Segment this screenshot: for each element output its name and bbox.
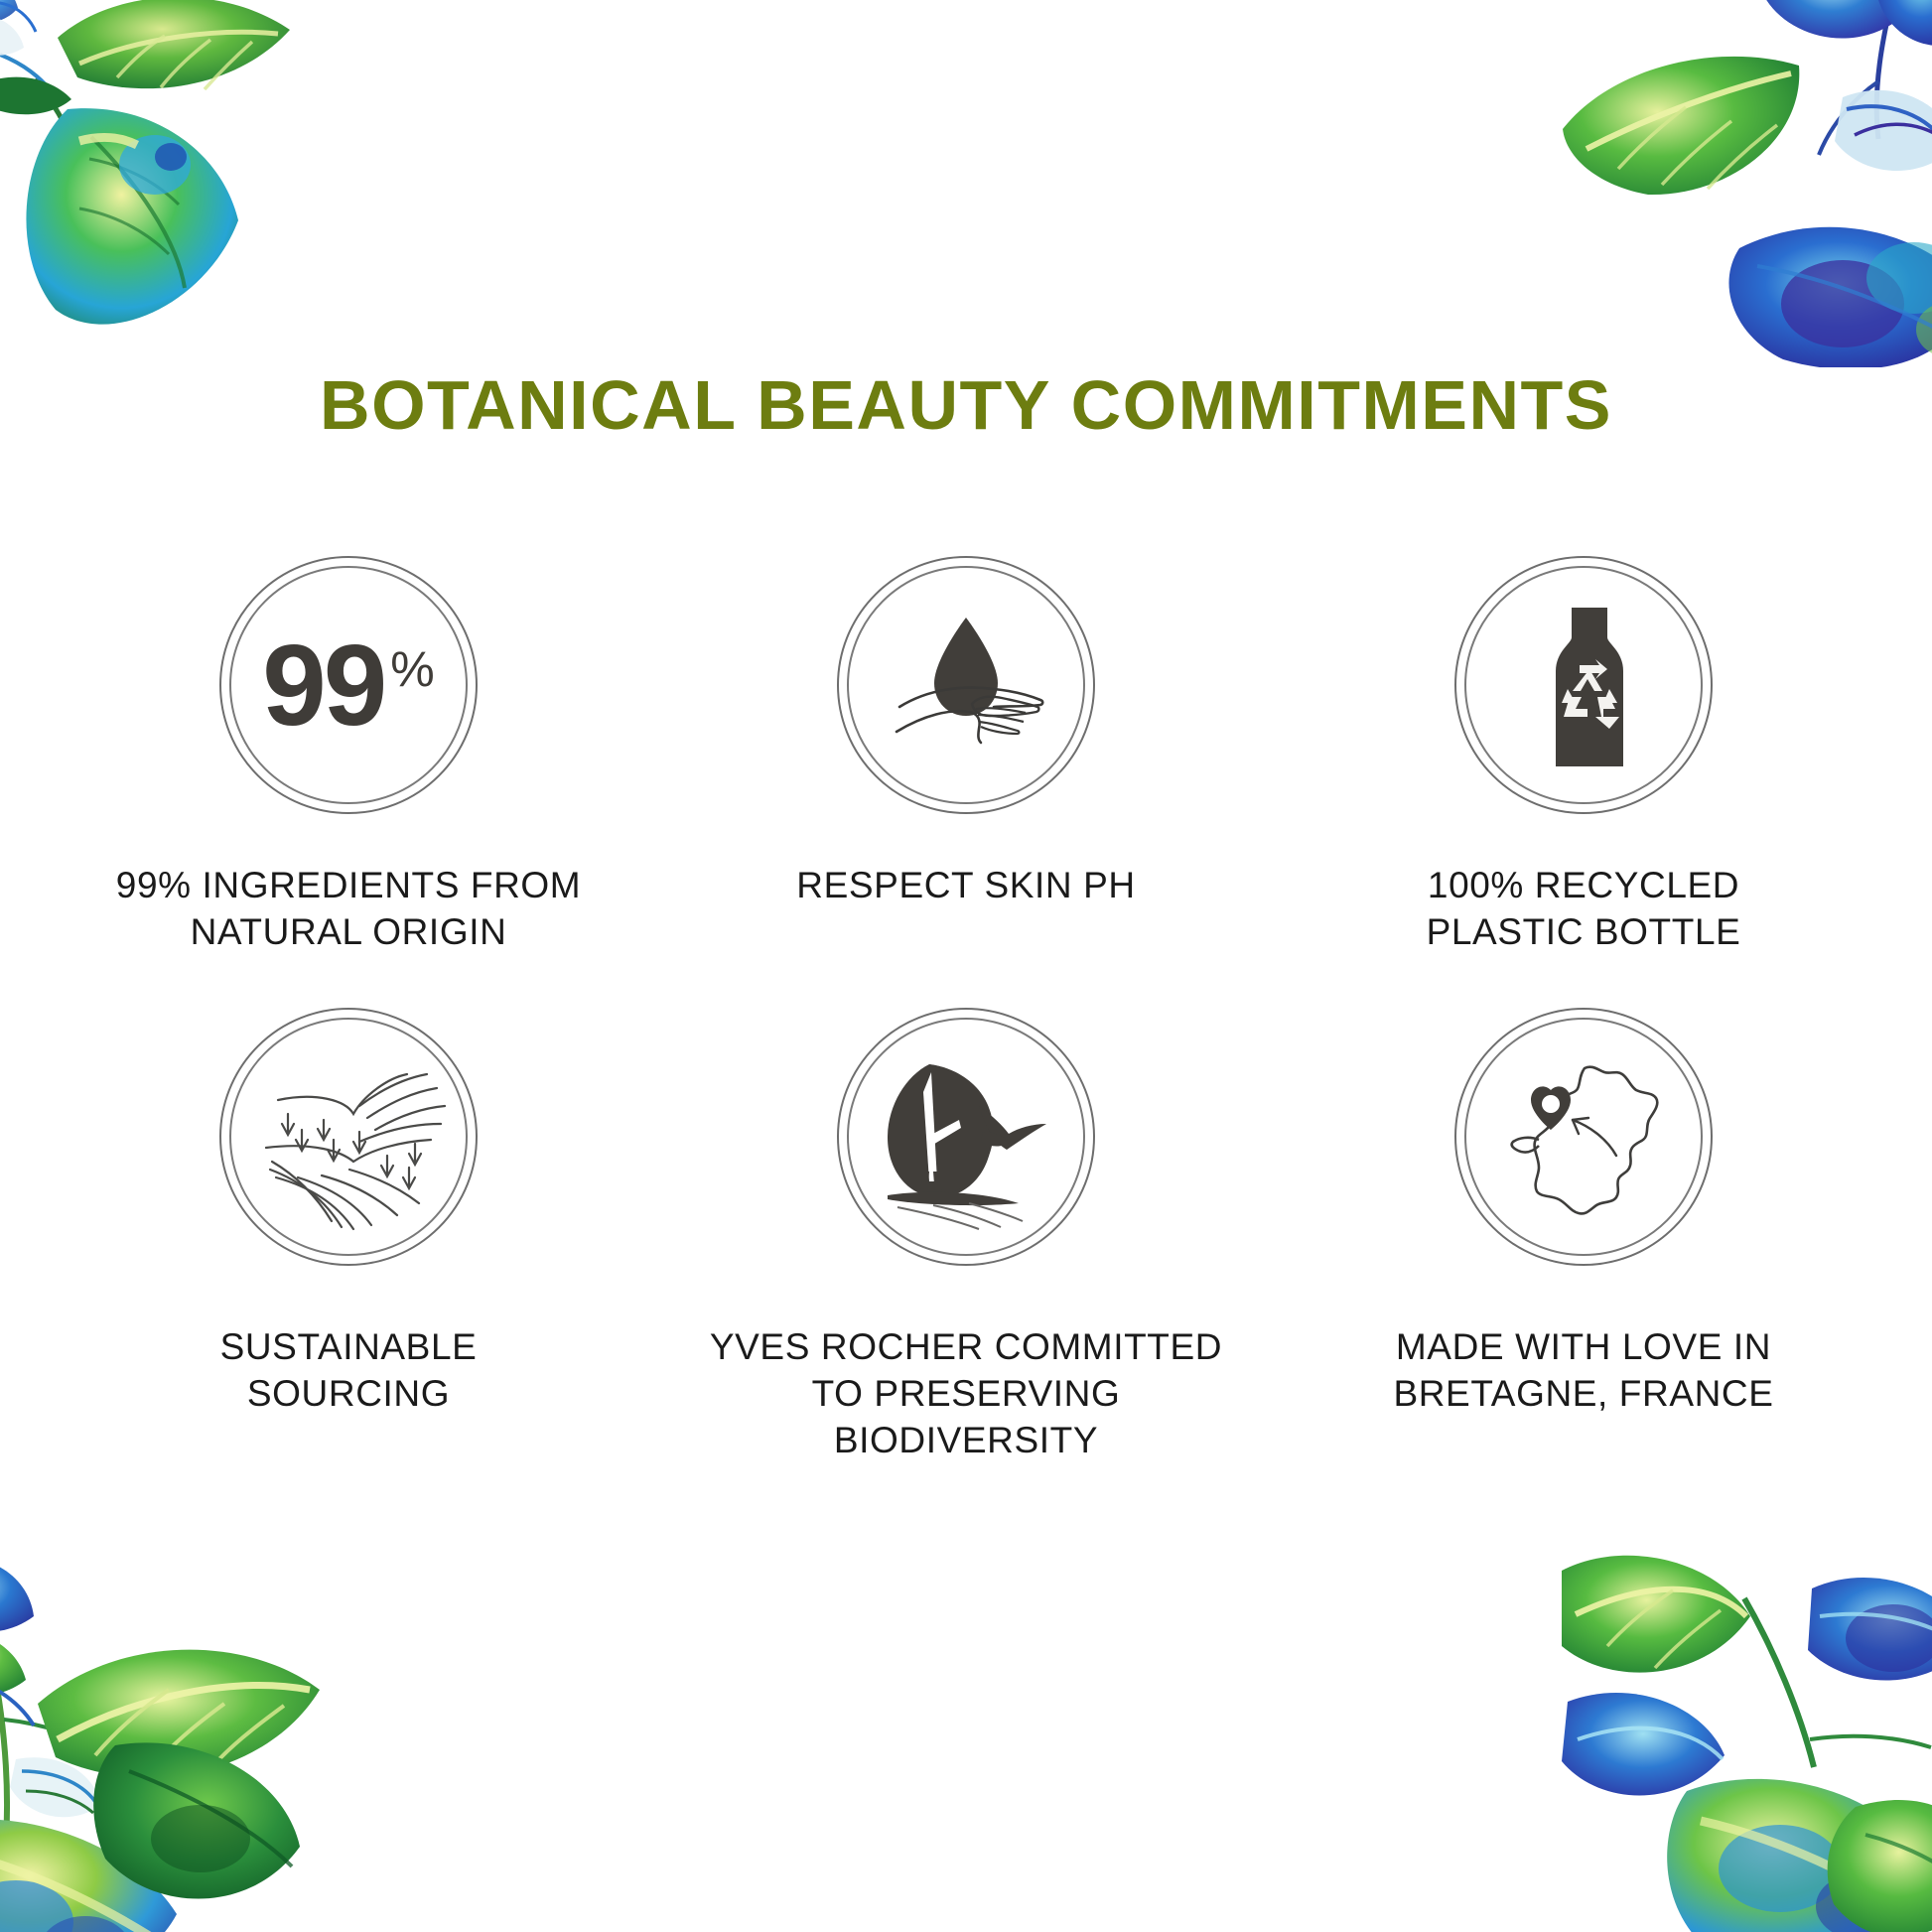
caption-line: SUSTAINABLE xyxy=(220,1323,478,1370)
caption-line: PLASTIC BOTTLE xyxy=(1427,908,1741,955)
caption-line: BIODIVERSITY xyxy=(710,1417,1222,1463)
tree-and-bird-badge xyxy=(837,1008,1095,1266)
watercolor-mint-leaves-top-left xyxy=(0,0,397,377)
poster-canvas: BOTANICAL BEAUTY COMMITMENTS 99 % 99% IN… xyxy=(0,0,1932,1932)
watercolor-mint-leaves-bottom-left xyxy=(0,1525,397,1932)
commitment-item-recycled-bottle: 100% RECYCLED PLASTIC BOTTLE xyxy=(1275,556,1892,956)
commitment-item-sustainable-sourcing: SUSTAINABLE SOURCING xyxy=(40,1008,657,1464)
france-map-with-heart-icon xyxy=(1481,1035,1686,1239)
commitment-caption: 99% INGREDIENTS FROM NATURAL ORIGIN xyxy=(116,862,581,956)
commitment-item-ingredients: 99 % 99% INGREDIENTS FROM NATURAL ORIGIN xyxy=(40,556,657,956)
recycled-plastic-bottle-badge xyxy=(1454,556,1713,814)
caption-line: 100% RECYCLED xyxy=(1427,862,1741,908)
watercolor-mint-leaves-bottom-right xyxy=(1550,1555,1932,1932)
percent-number: 99 xyxy=(262,634,384,736)
water-drop-on-hand-badge xyxy=(837,556,1095,814)
caption-line: BRETAGNE, FRANCE xyxy=(1393,1370,1773,1417)
watercolor-mint-leaves-top-right xyxy=(1545,0,1932,367)
caption-line: 99% INGREDIENTS FROM xyxy=(116,862,581,908)
commitment-item-made-in-bretagne: MADE WITH LOVE IN BRETAGNE, FRANCE xyxy=(1275,1008,1892,1464)
commitment-item-biodiversity: YVES ROCHER COMMITTED TO PRESERVING BIOD… xyxy=(657,1008,1275,1464)
commitment-caption: SUSTAINABLE SOURCING xyxy=(220,1323,478,1418)
recycled-plastic-bottle-icon xyxy=(1484,586,1683,784)
caption-line: MADE WITH LOVE IN xyxy=(1393,1323,1773,1370)
tree-and-bird-icon xyxy=(862,1033,1070,1241)
page-title: BOTANICAL BEAUTY COMMITMENTS xyxy=(0,365,1932,445)
caption-line: NATURAL ORIGIN xyxy=(116,908,581,955)
caption-line: SOURCING xyxy=(220,1370,478,1417)
commitment-caption: MADE WITH LOVE IN BRETAGNE, FRANCE xyxy=(1393,1323,1773,1418)
caption-line: RESPECT SKIN PH xyxy=(796,862,1135,908)
water-drop-on-hand-icon xyxy=(867,586,1065,784)
commitment-item-skin-ph: RESPECT SKIN PH xyxy=(657,556,1275,956)
commitment-caption: YVES ROCHER COMMITTED TO PRESERVING BIOD… xyxy=(710,1323,1222,1464)
terraced-field-badge xyxy=(219,1008,478,1266)
france-map-with-heart-badge xyxy=(1454,1008,1713,1266)
percent-value: 99 % xyxy=(262,634,435,736)
commitment-caption: RESPECT SKIN PH xyxy=(796,862,1135,908)
caption-line: YVES ROCHER COMMITTED xyxy=(710,1323,1222,1370)
99-percent-badge-icon: 99 % xyxy=(219,556,478,814)
commitments-grid: 99 % 99% INGREDIENTS FROM NATURAL ORIGIN xyxy=(40,556,1892,1464)
percent-symbol: % xyxy=(390,644,434,694)
commitment-caption: 100% RECYCLED PLASTIC BOTTLE xyxy=(1427,862,1741,956)
terraced-field-sprouts-icon xyxy=(242,1031,455,1243)
caption-line: TO PRESERVING xyxy=(710,1370,1222,1417)
